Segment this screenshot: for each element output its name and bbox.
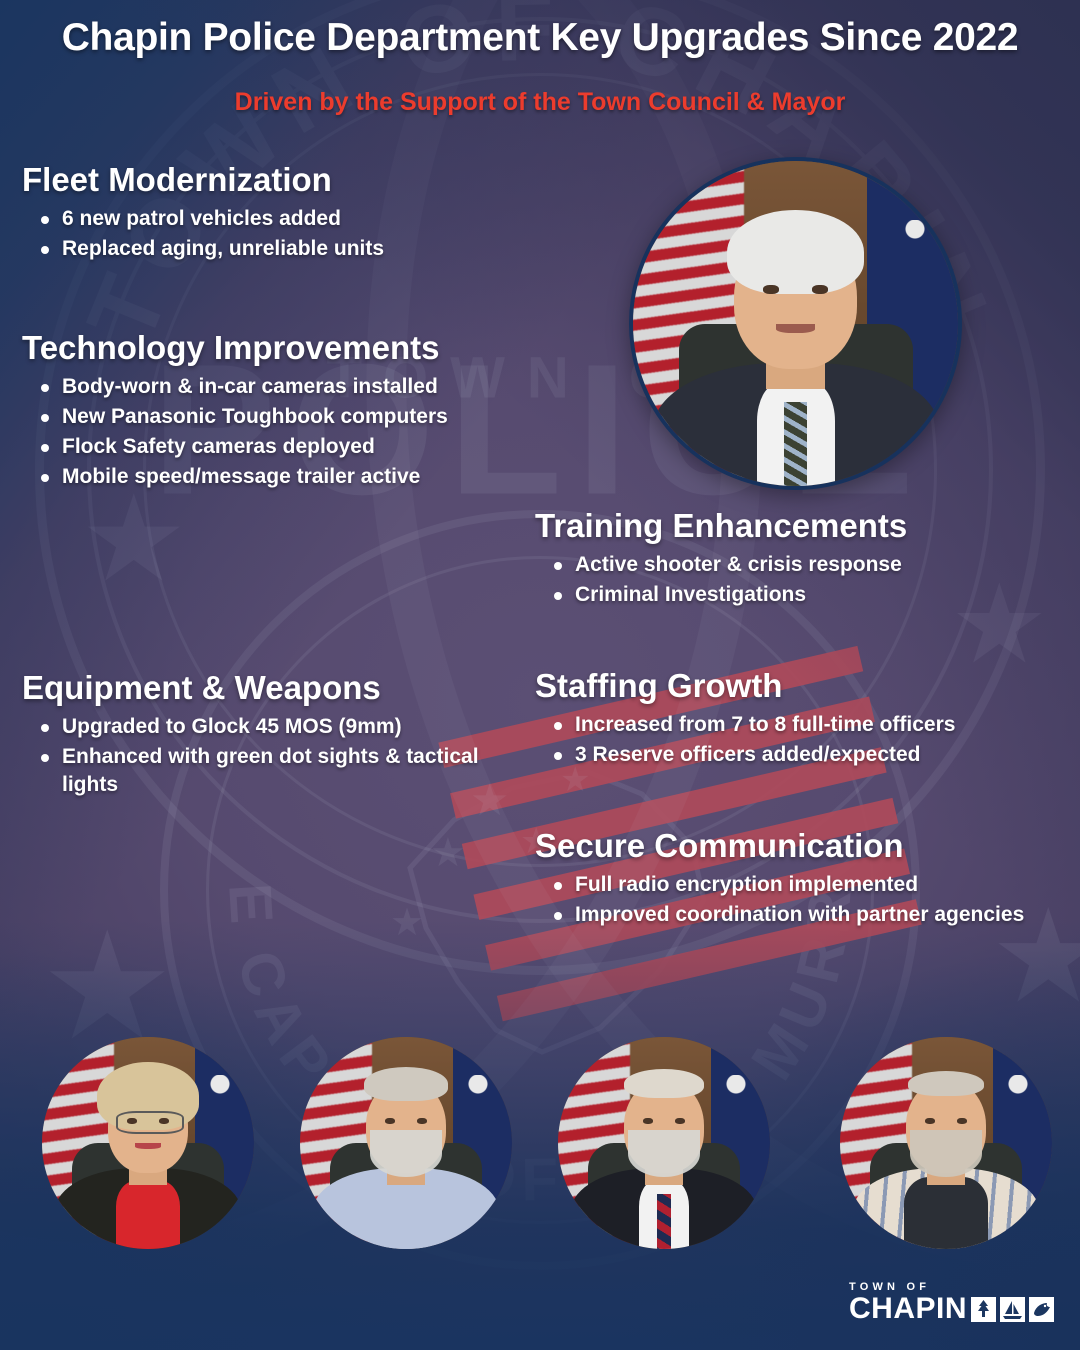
list-item: Mobile speed/message trailer active [22, 463, 492, 491]
bullet-list-training: Active shooter & crisis response Crimina… [535, 551, 1055, 609]
section-fleet-modernization: Fleet Modernization 6 new patrol vehicle… [22, 162, 492, 265]
list-item: Enhanced with green dot sights & tactica… [22, 743, 512, 799]
page-subtitle: Driven by the Support of the Town Counci… [0, 88, 1080, 117]
list-item: 6 new patrol vehicles added [22, 205, 492, 233]
list-item: Upgraded to Glock 45 MOS (9mm) [22, 713, 512, 741]
list-item: Body-worn & in-car cameras installed [22, 373, 492, 401]
section-secure-communication: Secure Communication Full radio encrypti… [535, 828, 1035, 931]
section-equipment-weapons: Equipment & Weapons Upgraded to Glock 45… [22, 670, 512, 801]
section-heading-fleet: Fleet Modernization [22, 162, 492, 199]
section-heading-staffing: Staffing Growth [535, 668, 1065, 705]
bullet-list-fleet: 6 new patrol vehicles added Replaced agi… [22, 205, 492, 263]
logo-wordmark: CHAPIN [849, 1294, 967, 1324]
list-item: Criminal Investigations [535, 581, 1055, 609]
section-heading-equipment: Equipment & Weapons [22, 670, 512, 707]
list-item: Improved coordination with partner agenc… [535, 901, 1035, 929]
list-item: Increased from 7 to 8 full-time officers [535, 711, 1065, 739]
page-title: Chapin Police Department Key Upgrades Si… [0, 16, 1080, 60]
bullet-list-equipment: Upgraded to Glock 45 MOS (9mm) Enhanced … [22, 713, 512, 799]
list-item: Full radio encryption implemented [535, 871, 1035, 899]
section-training-enhancements: Training Enhancements Active shooter & c… [535, 508, 1055, 611]
list-item: Flock Safety cameras deployed [22, 433, 492, 461]
list-item: New Panasonic Toughbook computers [22, 403, 492, 431]
bullet-list-technology: Body-worn & in-car cameras installed New… [22, 373, 492, 491]
list-item: Active shooter & crisis response [535, 551, 1055, 579]
list-item: 3 Reserve officers added/expected [535, 741, 1065, 769]
tree-icon [971, 1297, 996, 1322]
photo-council-member-3 [558, 1037, 770, 1249]
section-heading-technology: Technology Improvements [22, 330, 492, 367]
photo-council-member-2 [300, 1037, 512, 1249]
town-of-chapin-logo: TOWN OF CHAPIN [849, 1281, 1054, 1324]
section-technology-improvements: Technology Improvements Body-worn & in-c… [22, 330, 492, 493]
bullet-list-secure: Full radio encryption implemented Improv… [535, 871, 1035, 929]
photo-council-member-1 [42, 1037, 254, 1249]
sailboat-icon [1000, 1297, 1025, 1322]
bird-icon [1029, 1297, 1054, 1322]
section-staffing-growth: Staffing Growth Increased from 7 to 8 fu… [535, 668, 1065, 771]
section-heading-secure: Secure Communication [535, 828, 1035, 865]
photo-council-member-4 [840, 1037, 1052, 1249]
infographic-canvas: TOWN OF CHAPIN TOWN OF POLICE THE CAPITA… [0, 0, 1080, 1350]
photo-mayor [629, 157, 962, 490]
bullet-list-staffing: Increased from 7 to 8 full-time officers… [535, 711, 1065, 769]
section-heading-training: Training Enhancements [535, 508, 1055, 545]
list-item: Replaced aging, unreliable units [22, 235, 492, 263]
